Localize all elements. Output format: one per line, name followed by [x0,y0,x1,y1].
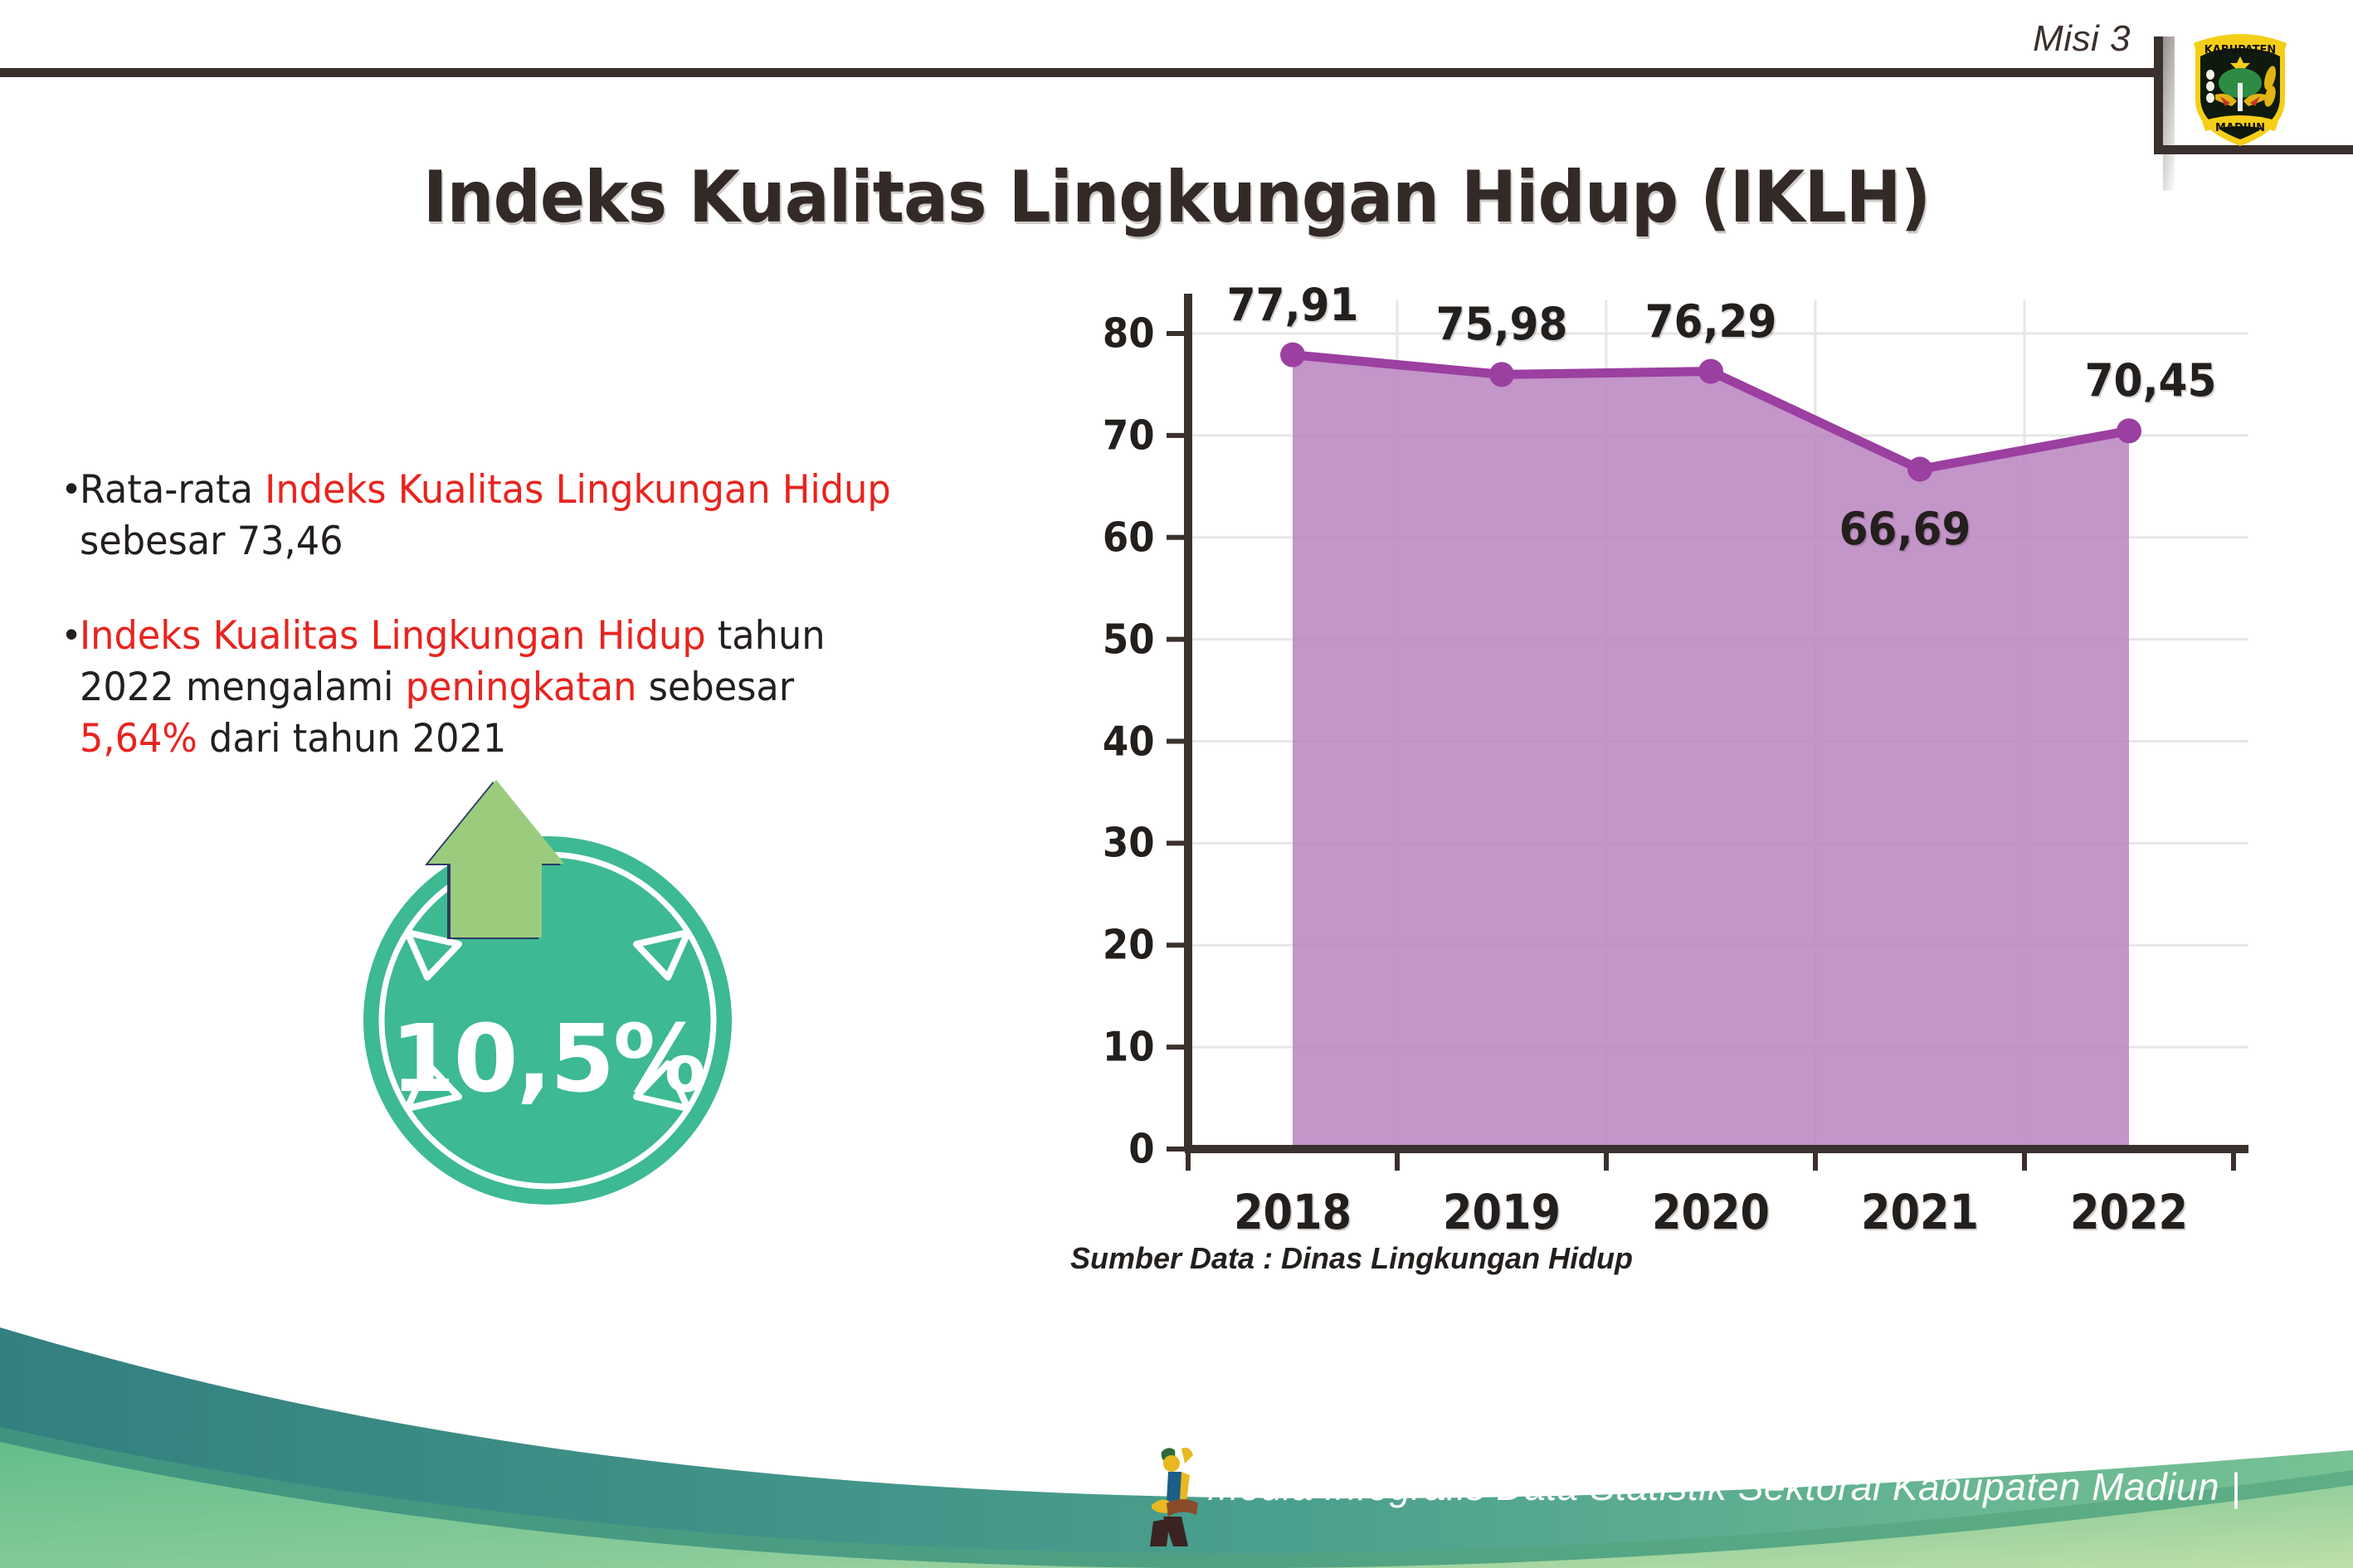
data-point-label: 70,45 [2050,354,2251,407]
x-axis-tick-label: 2021 [1836,1184,2004,1240]
kabupaten-madiun-logo: KABUPATEN MADIUN [2182,23,2298,149]
y-axis-tick-label: 40 [1070,718,1154,765]
bullet-segment: Rata-rata [80,467,265,513]
bullet-segment-highlight: Indeks Kualitas Lingkungan Hidup [265,467,891,513]
svg-text:KABUPATEN: KABUPATEN [2204,44,2277,56]
increase-badge: 10,5% [328,747,767,1211]
header-bracket-vertical [2154,37,2163,154]
infographic-slide: Misi 3 KABUPATEN MADIUN Indeks Kualitas … [0,0,2353,1568]
chart-canvas [954,274,2298,1269]
y-axis-tick-label: 0 [1070,1126,1154,1173]
bullet-segment-highlight: Indeks Kualitas Lingkungan Hidup [80,613,706,659]
iklh-area-chart: 010203040506070802018201920202021202277,… [954,274,2298,1269]
bullet-marker: • [65,465,78,511]
y-axis-tick-label: 80 [1070,310,1154,358]
badge-graphic [328,747,767,1211]
crest-icon: KABUPATEN MADIUN [2182,23,2298,149]
y-axis-tick-label: 20 [1070,922,1154,969]
bullet-segment-highlight: 5,64% [80,716,197,762]
page-title: Indeks Kualitas Lingkungan Hidup (IKLH) [82,156,2270,239]
bullet-text: Indeks Kualitas Lingkungan Hidup tahun 2… [80,611,901,765]
data-point-label: 76,29 [1610,295,1811,348]
bullet-text: Rata-rata Indeks Kualitas Lingkungan Hid… [80,465,901,567]
y-axis-tick-label: 60 [1070,514,1154,561]
data-point-label: 75,98 [1401,298,1602,350]
x-axis-tick-label: 2022 [2045,1184,2213,1240]
x-axis-tick-label: 2019 [1418,1184,1586,1240]
misi-label: Misi 3 [2033,18,2131,60]
bullet-marker: • [65,611,78,657]
header-divider-line [0,68,2162,77]
y-axis-tick-label: 70 [1070,411,1154,459]
chart-source-note: Sumber Data : Dinas Lingkungan Hidup [1070,1241,1633,1276]
list-item: • Rata-rata Indeks Kualitas Lingkungan H… [65,465,944,567]
y-axis-tick-label: 10 [1070,1024,1154,1071]
data-point-label: 77,91 [1192,279,1393,331]
y-axis-tick-label: 50 [1070,616,1154,663]
bullet-segment-highlight: peningkatan [406,665,637,710]
badge-percentage-value: 10,5% [328,1006,767,1113]
list-item: • Indeks Kualitas Lingkungan Hidup tahun… [65,611,944,765]
footer-text: Media Infografis Data Statistik Sektoral… [1207,1464,2241,1509]
data-point-label: 66,69 [1805,503,2005,555]
y-axis-tick-label: 30 [1070,820,1154,867]
svg-text:MADIUN: MADIUN [2215,122,2265,134]
bullet-segment: sebesar 73,46 [80,519,343,564]
x-axis-tick-label: 2018 [1209,1184,1376,1240]
x-axis-tick-label: 2020 [1627,1184,1795,1240]
bullet-segment: sebesar [637,665,795,710]
